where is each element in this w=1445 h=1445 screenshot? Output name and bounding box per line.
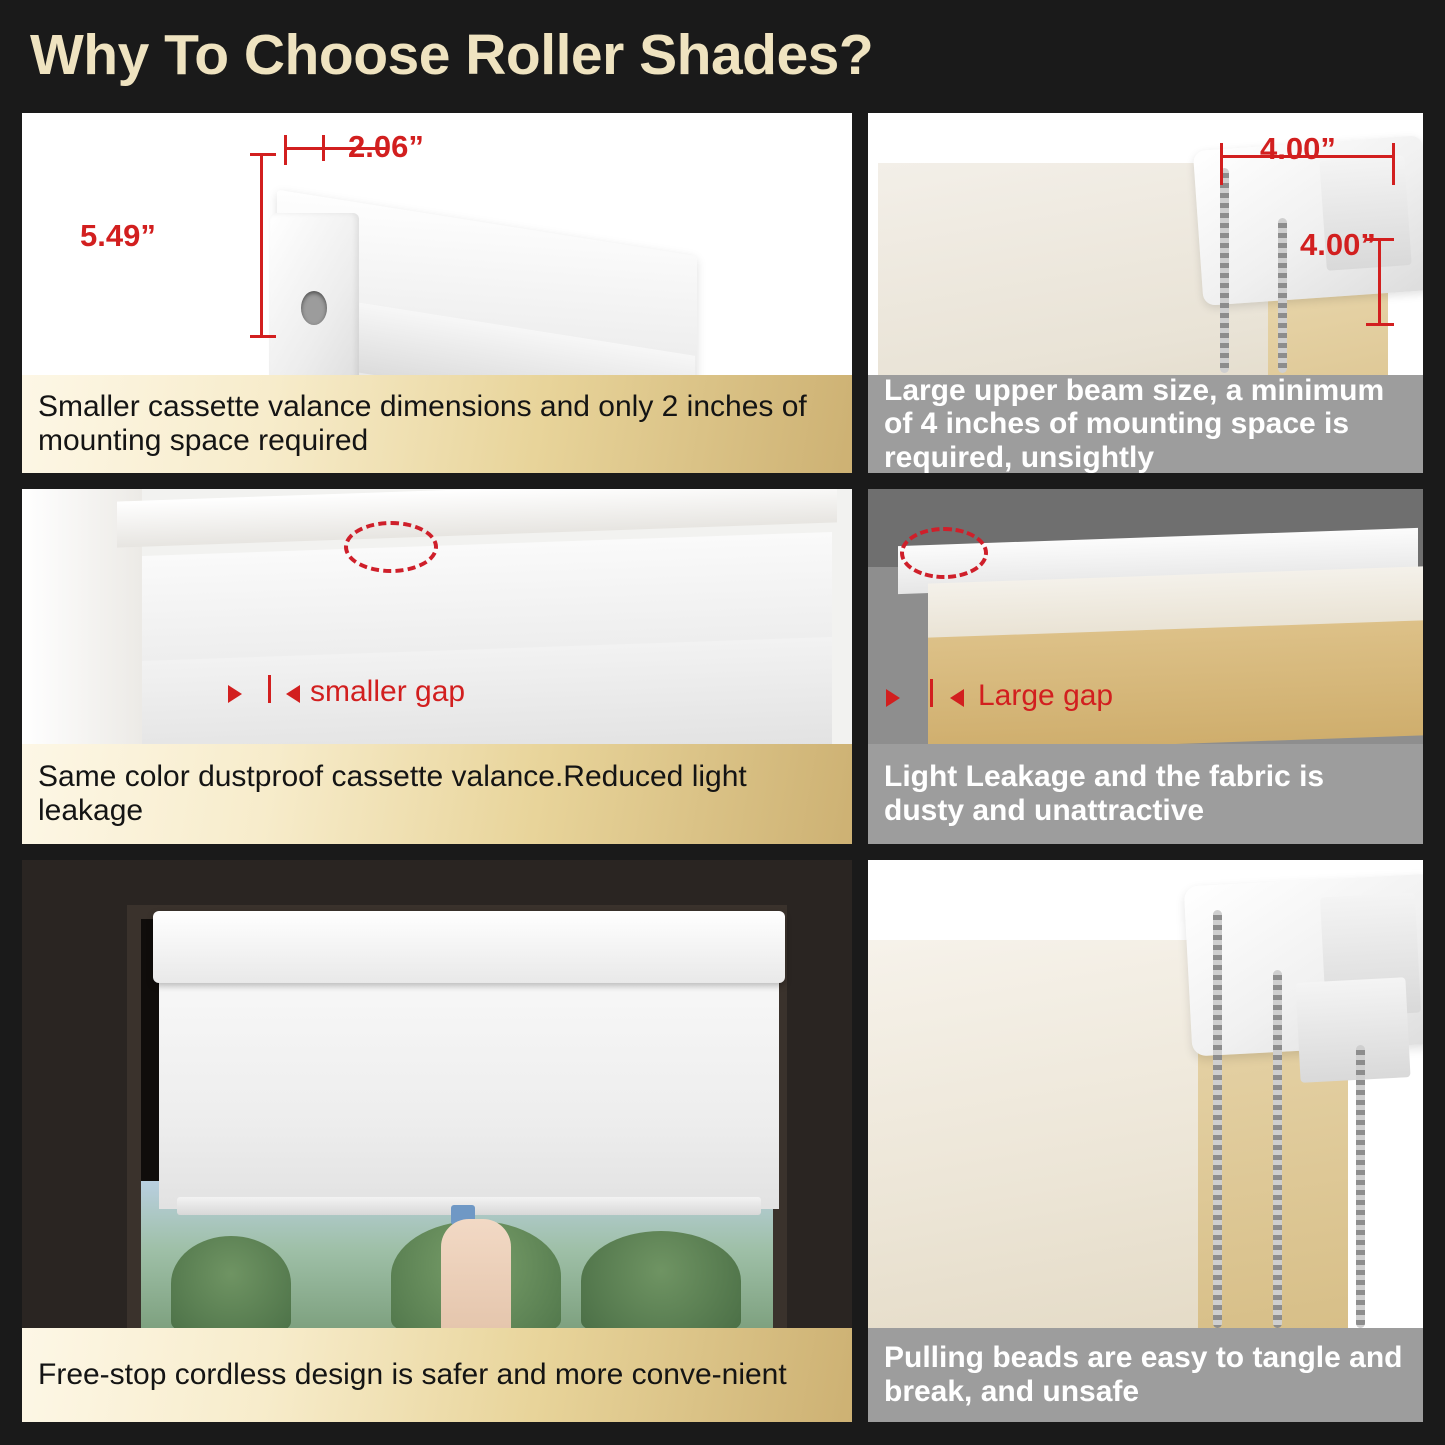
panel-cordless-design: Free-stop cordless design is safer and m…: [22, 860, 852, 1422]
gap-highlight-ellipse: [344, 521, 438, 573]
panel-light-leakage: Large gap Light Leakage and the fabric i…: [868, 489, 1423, 844]
beam-depth-label: 4.00”: [1300, 227, 1376, 263]
panel-4-caption-text: Light Leakage and the fabric is dusty an…: [884, 760, 1409, 827]
panel-3-photo: smaller gap: [22, 489, 852, 744]
height-dimension-label: 5.49”: [80, 218, 156, 254]
height-dimension-tick-top: [250, 153, 276, 156]
gap-marker-line: [268, 675, 271, 703]
bead-chain-left: [1213, 910, 1222, 1328]
page-title: Why To Choose Roller Shades?: [30, 22, 873, 88]
panel-1-photo: 2.06” 5.49”: [22, 113, 852, 375]
panel-5-photo: [22, 860, 852, 1328]
panel-6-caption: Pulling beads are easy to tangle and bre…: [868, 1328, 1423, 1422]
infographic-page: Why To Choose Roller Shades? 2.06” 5.49”…: [0, 0, 1445, 1445]
panel-cassette-valance: 2.06” 5.49” Smaller cassette valance dim…: [22, 113, 852, 473]
tree-foliage-left: [171, 1236, 291, 1328]
height-dimension-tick-bottom: [250, 335, 276, 338]
bead-chain-left: [1220, 168, 1229, 373]
panel-4-photo: Large gap: [868, 489, 1423, 744]
width-dimension-label: 2.06”: [348, 129, 424, 165]
beam-width-tick-right: [1392, 143, 1395, 185]
beam-depth-dimension-line: [1378, 238, 1381, 326]
end-cap-hole: [301, 291, 327, 325]
cassette-valance: [153, 911, 785, 983]
beam-width-tick-left: [1220, 143, 1223, 185]
width-dimension-tick-right: [322, 135, 325, 161]
panel-2-photo: 4.00” 4.00”: [868, 113, 1423, 375]
panel-4-caption: Light Leakage and the fabric is dusty an…: [868, 744, 1423, 844]
panel-2-caption: Large upper beam size, a minimum of 4 in…: [868, 375, 1423, 473]
panel-pulling-beads: Pulling beads are easy to tangle and bre…: [868, 860, 1423, 1422]
panel-1-caption: Smaller cassette valance dimensions and …: [22, 375, 852, 473]
gap-arrow-right: [950, 689, 964, 707]
panel-dustproof-cassette: smaller gap Same color dustproof cassett…: [22, 489, 852, 844]
gap-highlight-ellipse: [900, 527, 988, 579]
beam-width-label: 4.00”: [1260, 131, 1336, 167]
panel-5-caption-text: Free-stop cordless design is safer and m…: [38, 1358, 787, 1392]
panel-5-caption: Free-stop cordless design is safer and m…: [22, 1328, 852, 1422]
valance-end-cap: [269, 213, 359, 375]
gap-arrow-right: [286, 685, 300, 703]
gap-marker-line: [930, 679, 933, 707]
gap-arrow-left: [228, 685, 242, 703]
panel-2-caption-text: Large upper beam size, a minimum of 4 in…: [884, 374, 1409, 473]
panel-6-caption-text: Pulling beads are easy to tangle and bre…: [884, 1341, 1409, 1408]
panel-3-caption: Same color dustproof cassette valance.Re…: [22, 744, 852, 844]
hand: [441, 1219, 511, 1328]
panel-1-caption-text: Smaller cassette valance dimensions and …: [38, 390, 838, 457]
width-dimension-tick-left: [284, 135, 287, 165]
panel-large-upper-beam: 4.00” 4.00” Large upper beam size, a min…: [868, 113, 1423, 473]
gap-arrow-left: [886, 689, 900, 707]
bead-chain-right: [1278, 218, 1287, 373]
bead-chain-middle: [1273, 970, 1282, 1328]
height-dimension-line: [260, 153, 263, 338]
window-opening: [127, 905, 787, 1328]
panel-6-photo: [868, 860, 1423, 1328]
tree-foliage-right: [581, 1231, 741, 1328]
mounting-bracket-bottom: [1295, 977, 1410, 1083]
gap-callout-label: smaller gap: [310, 675, 465, 709]
beam-depth-tick-bottom: [1366, 323, 1394, 326]
bead-chain-right: [1356, 1045, 1365, 1328]
panel-3-caption-text: Same color dustproof cassette valance.Re…: [38, 760, 838, 827]
gap-callout-label: Large gap: [978, 679, 1113, 713]
